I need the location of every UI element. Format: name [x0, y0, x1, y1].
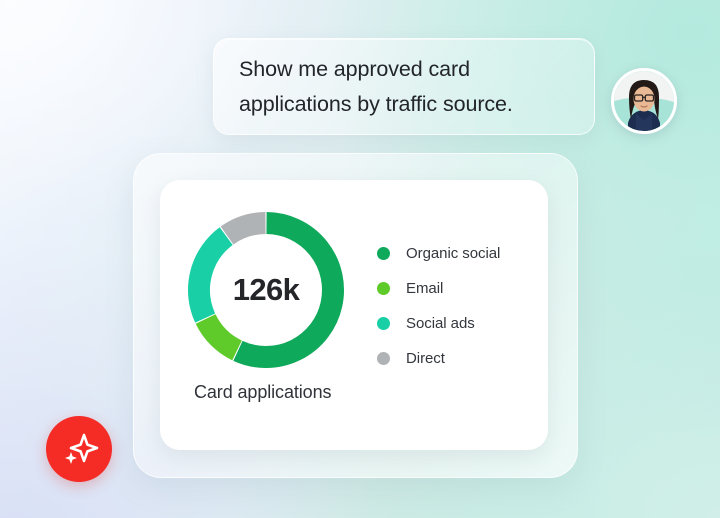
avatar-photo — [614, 71, 674, 131]
legend-item-label: Email — [406, 280, 443, 297]
chat-message-text: Show me approved card applications by tr… — [239, 52, 513, 121]
legend-color-dot — [377, 317, 390, 330]
donut-center-value: 126k — [186, 210, 346, 370]
chat-message-bubble: Show me approved card applications by tr… — [213, 38, 595, 135]
sparkle-badge-button[interactable] — [46, 416, 112, 482]
donut-chart: 126k — [186, 210, 346, 370]
legend-item[interactable]: Email — [377, 271, 537, 306]
legend-item-label: Social ads — [406, 315, 475, 332]
legend-item[interactable]: Social ads — [377, 306, 537, 341]
legend-item[interactable]: Organic social — [377, 236, 537, 271]
avatar[interactable] — [611, 68, 677, 134]
legend-item-label: Direct — [406, 350, 445, 367]
chart-card: 126k Card applications Organic socialEma… — [160, 180, 548, 450]
chart-legend: Organic socialEmailSocial adsDirect — [377, 236, 537, 376]
sparkle-icon — [58, 428, 100, 470]
legend-color-dot — [377, 247, 390, 260]
app-canvas: Show me approved card applications by tr… — [0, 0, 720, 518]
chart-caption: Card applications — [194, 382, 331, 403]
legend-color-dot — [377, 352, 390, 365]
legend-item[interactable]: Direct — [377, 341, 537, 376]
legend-color-dot — [377, 282, 390, 295]
legend-item-label: Organic social — [406, 245, 500, 262]
